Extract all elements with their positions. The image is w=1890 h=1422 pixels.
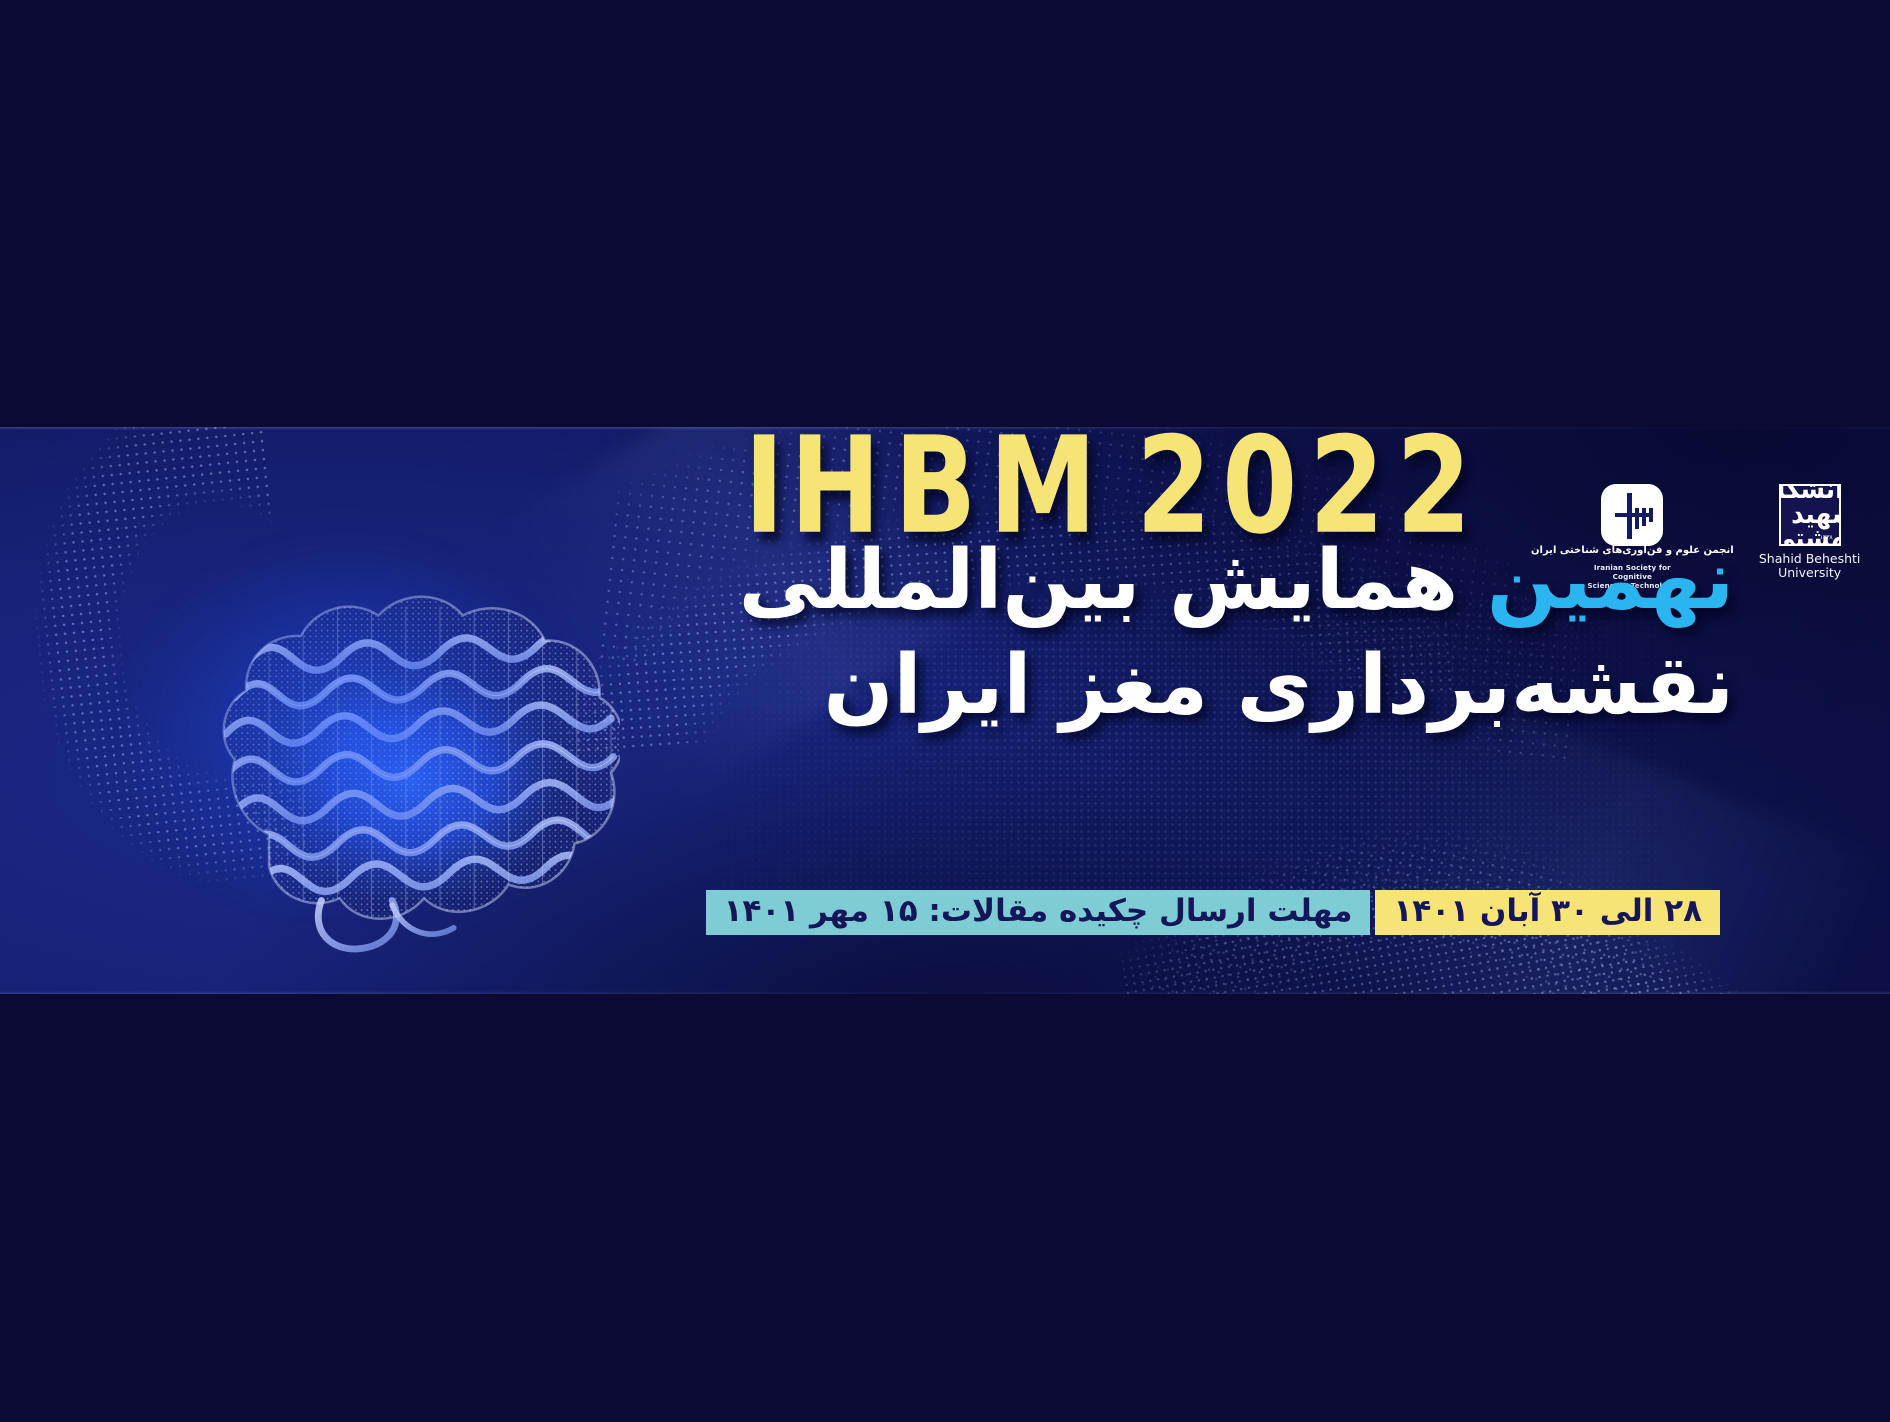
event-dates-badge[interactable]: ۲۸ الی ۳۰ آبان ۱۴۰۱: [1375, 890, 1720, 935]
university-name-en-line1: Shahid Beheshti: [1750, 552, 1870, 566]
university-founding-year: ۱۳۳۸: [1820, 534, 1833, 541]
university-name-en-line2: University: [1750, 566, 1870, 580]
page-background: انجمن علوم و فن‌آوری‌های شناختی ایران Ir…: [0, 0, 1890, 1422]
conference-banner: انجمن علوم و فن‌آوری‌های شناختی ایران Ir…: [0, 427, 1890, 994]
banner-bottom-edge: [0, 991, 1890, 994]
event-title-line-1: نهمین همایش بین‌المللی: [0, 529, 1734, 634]
event-title-line-1-rest: همایش بین‌المللی: [739, 533, 1459, 628]
logo-shahid-beheshti-university[interactable]: دانشگاه شهید بهشتی ۱۳۳۸ Shahid Beheshti …: [1750, 484, 1870, 581]
abstract-deadline-badge[interactable]: مهلت ارسال چکیده مقالات: ۱۵ مهر ۱۴۰۱: [706, 890, 1371, 935]
university-crest-icon: دانشگاه شهید بهشتی ۱۳۳۸: [1779, 484, 1841, 546]
event-title-ordinal: نهمین: [1487, 533, 1734, 628]
event-title-fa: نهمین همایش بین‌المللی نقشه‌برداری مغز ا…: [0, 529, 1734, 739]
badge-group: ۲۸ الی ۳۰ آبان ۱۴۰۱ مهلت ارسال چکیده مقا…: [706, 890, 1720, 935]
event-title-line-2: نقشه‌برداری مغز ایران: [0, 634, 1734, 739]
